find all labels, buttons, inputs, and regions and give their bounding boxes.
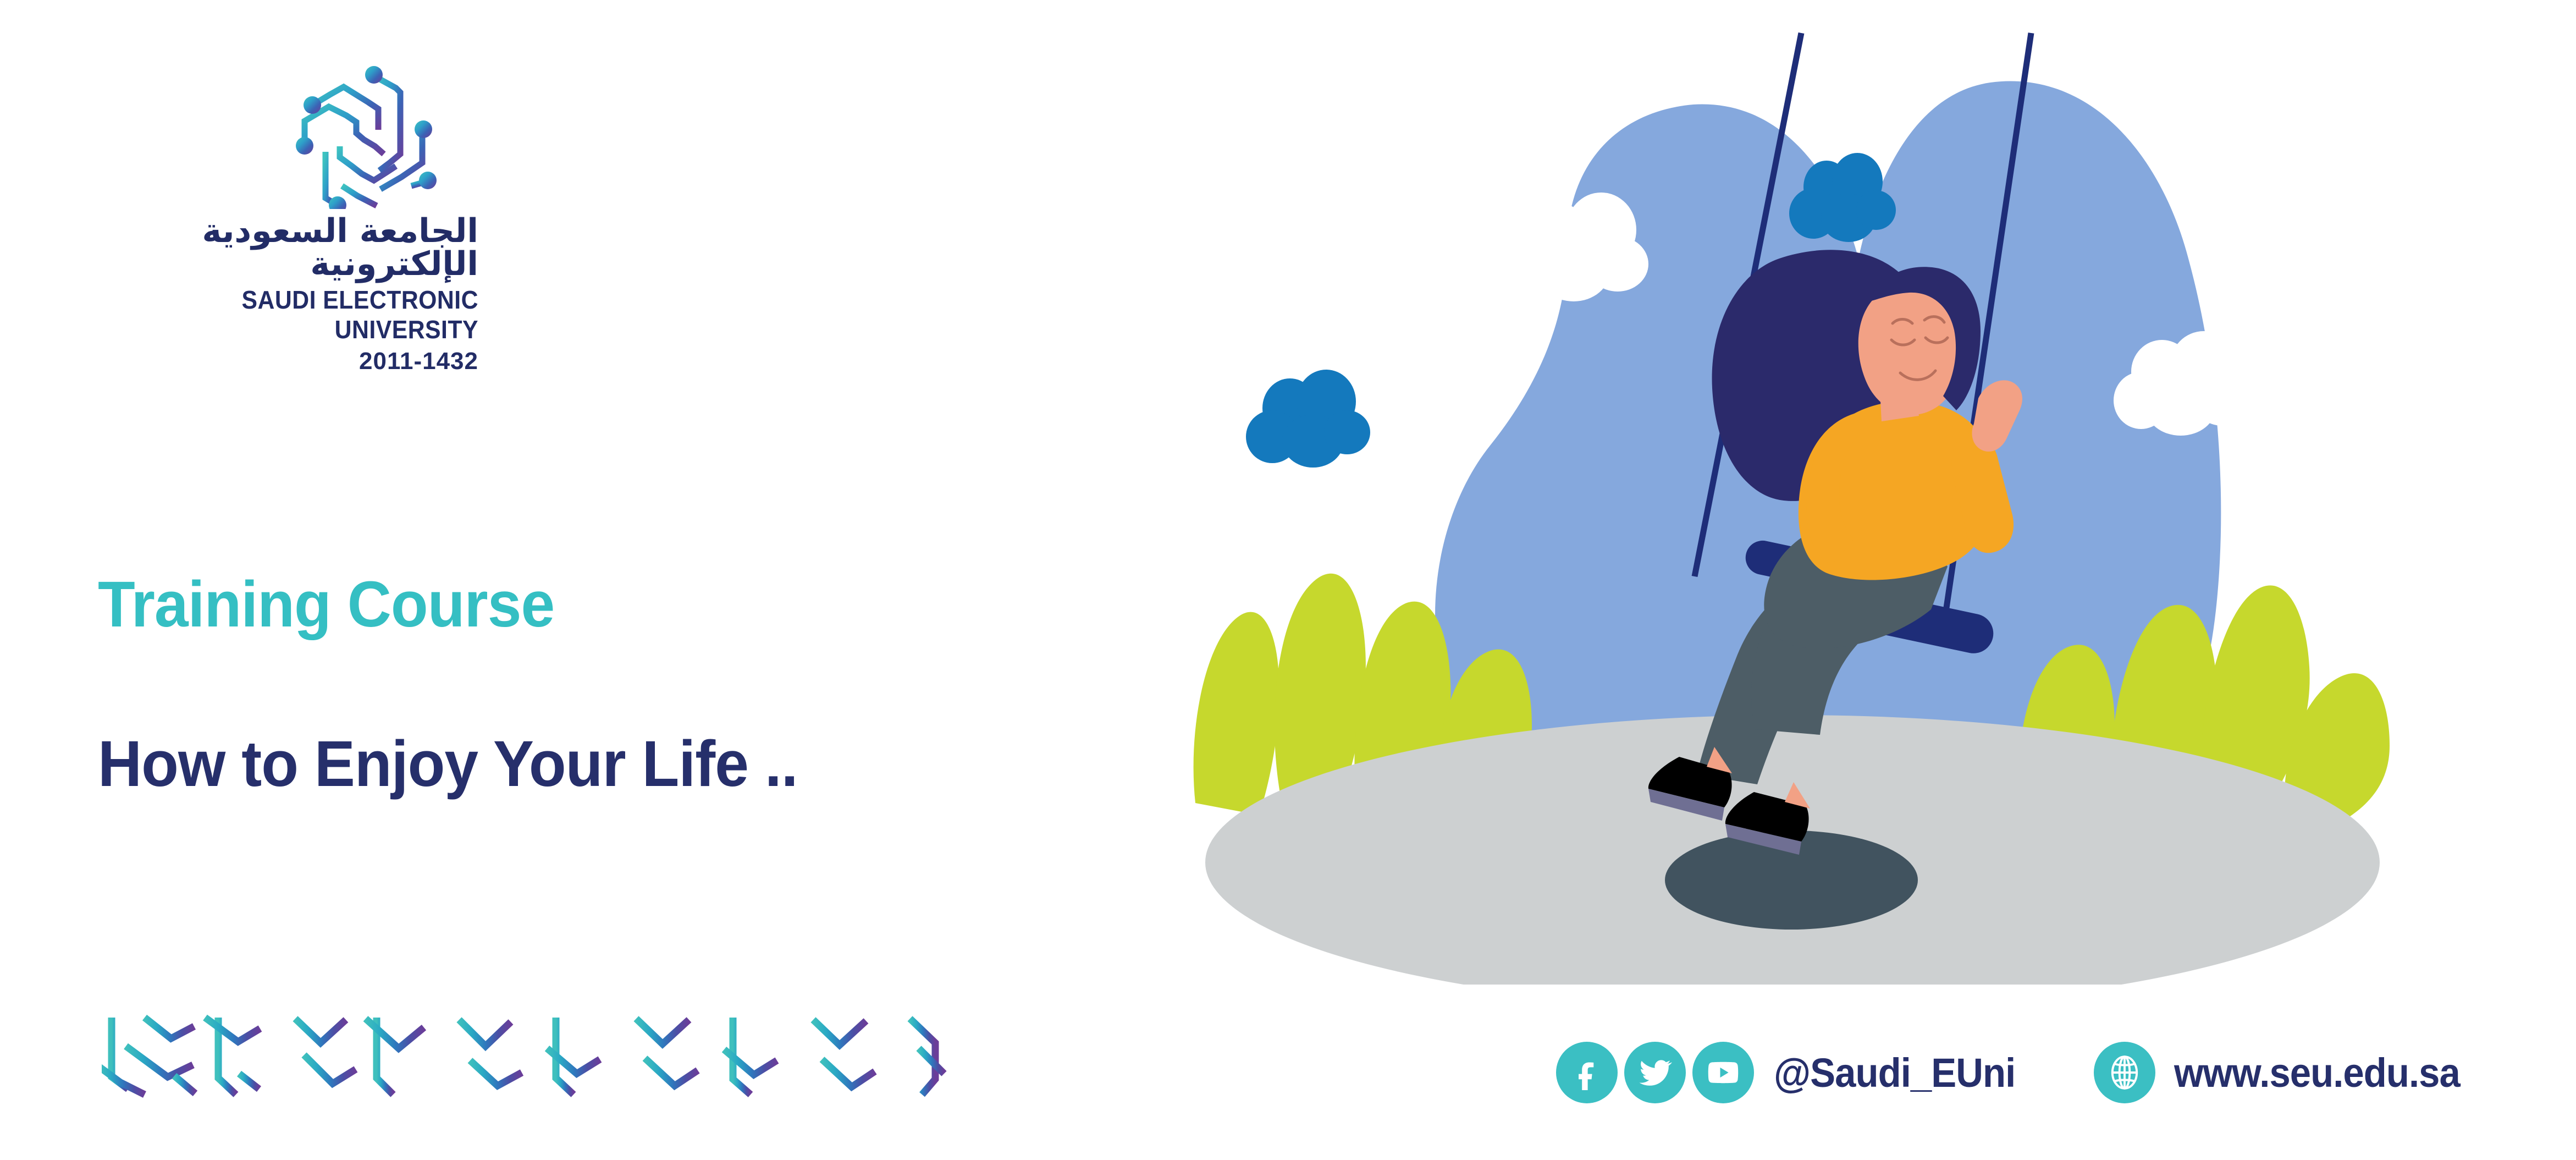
facebook-icon-button[interactable] (1556, 1042, 1618, 1103)
brand-name-english: SAUDI ELECTRONIC UNIVERSITY (100, 285, 478, 344)
social-icons-group (1556, 1042, 1754, 1103)
globe-icon (2105, 1053, 2144, 1092)
brand-text: الجامعة السعودية الإلكترونية SAUDI ELECT… (71, 215, 478, 375)
twitter-icon-button[interactable] (1624, 1042, 1686, 1103)
headline-block: Training Course How to Enjoy Your Life .… (98, 572, 842, 796)
youtube-icon (1705, 1054, 1741, 1091)
course-kicker: Training Course (98, 572, 798, 637)
website-url: www.seu.edu.sa (2174, 1049, 2460, 1096)
course-title: How to Enjoy Your Life .. (98, 732, 798, 796)
brand-name-arabic: الجامعة السعودية الإلكترونية (71, 215, 478, 281)
social-handle: @Saudi_EUni (1774, 1049, 2015, 1096)
globe-icon-button[interactable] (2094, 1042, 2155, 1103)
facebook-icon (1569, 1055, 1604, 1090)
brand-founding-years: 2011-1432 (71, 348, 478, 375)
footer-bar: @Saudi_EUni www.seu.edu.sa (1556, 1034, 2481, 1111)
brand-block: الجامعة السعودية الإلكترونية SAUDI ELECT… (71, 50, 489, 375)
website-group: www.seu.edu.sa (2094, 1042, 2481, 1103)
youtube-icon-button[interactable] (1692, 1042, 1754, 1103)
banner-root: الجامعة السعودية الإلكترونية SAUDI ELECT… (0, 0, 2576, 1160)
twitter-icon (1637, 1055, 1673, 1090)
swing-illustration (1182, 17, 2502, 985)
circuit-hexagon-logo-icon (291, 50, 440, 209)
cloud-white-left (1503, 193, 1648, 301)
cloud-blue-left (1246, 370, 1370, 468)
circuit-pattern-decoration (102, 1012, 1003, 1100)
